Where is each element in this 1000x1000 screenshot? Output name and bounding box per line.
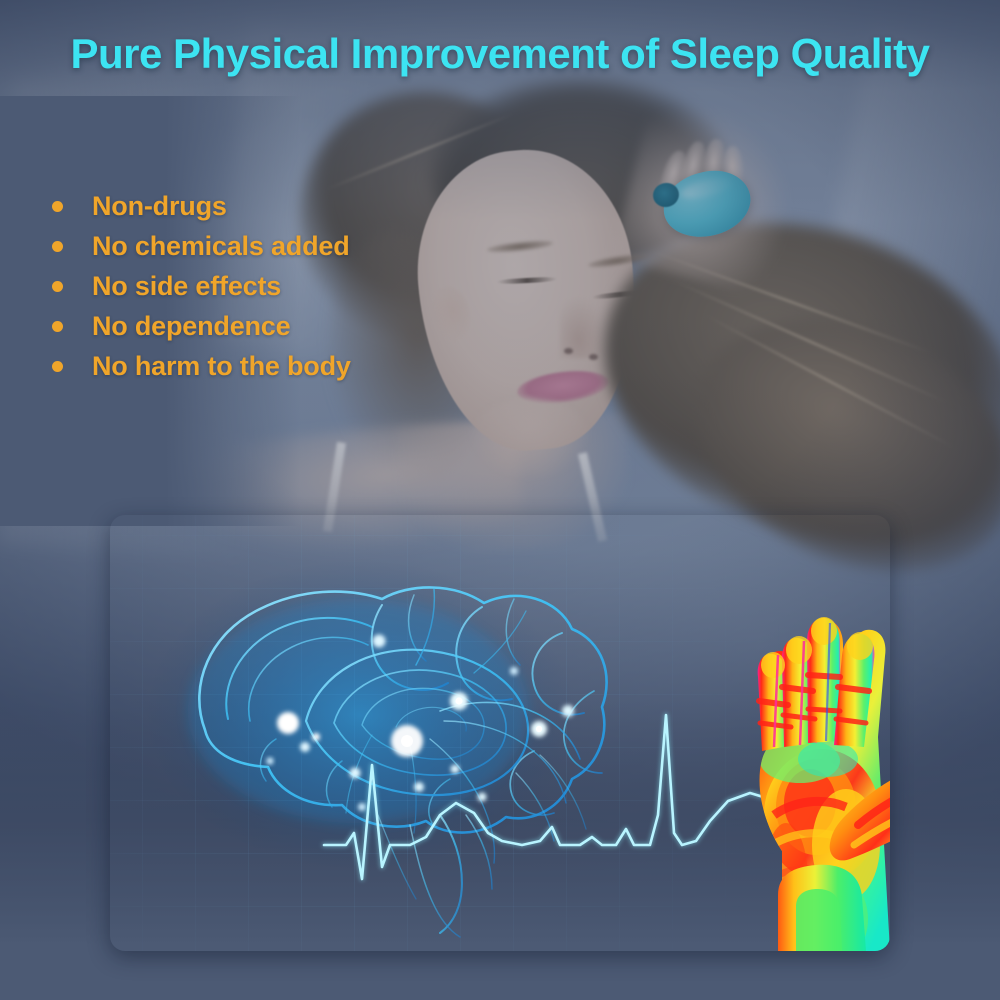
benefit-label: Non-drugs [92,191,227,222]
brain-illustration [145,560,607,937]
list-item: Non-drugs [52,186,482,226]
benefit-label: No chemicals added [92,231,350,262]
thermal-hand [758,617,890,951]
bullet-dot-icon [52,281,63,292]
bullet-dot-icon [52,321,63,332]
fingers [758,617,875,751]
benefit-label: No harm to the body [92,351,351,382]
list-item: No side effects [52,266,482,306]
bullet-dot-icon [52,201,63,212]
page-title: Pure Physical Improvement of Sleep Quali… [0,30,1000,78]
panel-artwork [110,515,890,951]
bullet-dot-icon [52,241,63,252]
benefit-label: No side effects [92,271,281,302]
list-item: No harm to the body [52,346,482,386]
list-item: No chemicals added [52,226,482,266]
bullet-dot-icon [52,361,63,372]
science-panel [110,515,890,951]
infographic-page: Pure Physical Improvement of Sleep Quali… [0,0,1000,1000]
benefit-label: No dependence [92,311,290,342]
list-item: No dependence [52,306,482,346]
benefits-list: Non-drugs No chemicals added No side eff… [52,186,482,386]
